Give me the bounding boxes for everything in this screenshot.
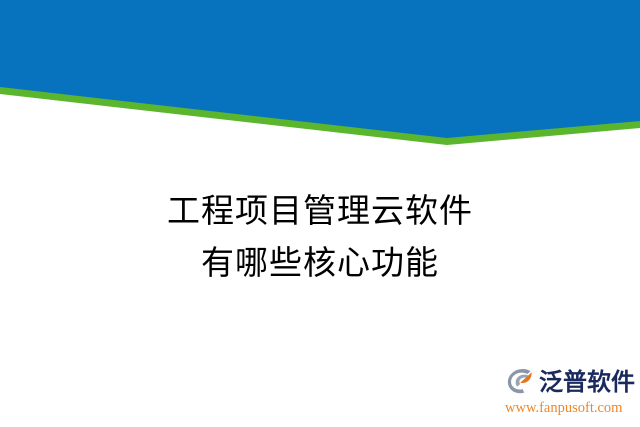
brand-url: www.fanpusoft.com <box>505 399 635 417</box>
banner-green-shape <box>0 0 640 145</box>
brand-name: 泛普软件 <box>539 367 635 397</box>
slide-canvas: 工程项目管理云软件 有哪些核心功能 泛普软件 www.fanpusoft.com <box>0 0 640 427</box>
title-line-2: 有哪些核心功能 <box>0 238 640 290</box>
page-title: 工程项目管理云软件 有哪些核心功能 <box>0 186 640 290</box>
banner-blue-shape <box>0 0 640 138</box>
fanpu-swoosh-icon <box>505 367 537 397</box>
brand-logo-row: 泛普软件 <box>505 366 635 398</box>
chevron-banner <box>0 0 640 160</box>
title-line-1: 工程项目管理云软件 <box>0 186 640 238</box>
brand-logo: 泛普软件 www.fanpusoft.com <box>505 366 635 418</box>
